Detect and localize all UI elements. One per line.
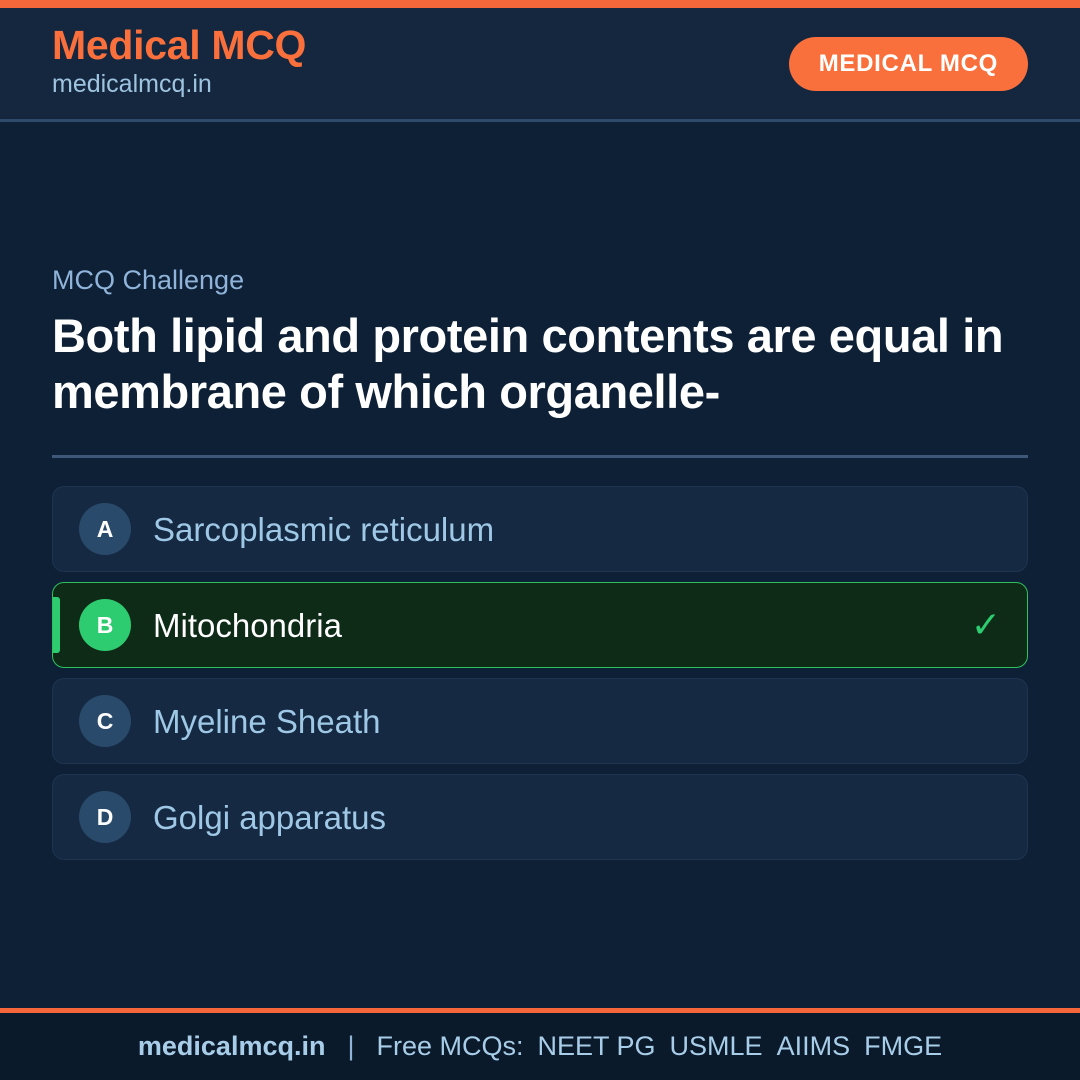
footer-exam-usmle[interactable]: USMLE bbox=[670, 1031, 763, 1062]
brand-subtitle: medicalmcq.in bbox=[52, 69, 306, 100]
check-icon: ✓ bbox=[971, 607, 1001, 643]
brand-block: Medical MCQ medicalmcq.in bbox=[52, 24, 306, 100]
page-footer: medicalmcq.in | Free MCQs: NEET PG USMLE… bbox=[0, 1008, 1080, 1080]
footer-site-link[interactable]: medicalmcq.in bbox=[138, 1031, 326, 1062]
page-header: Medical MCQ medicalmcq.in MEDICAL MCQ bbox=[0, 8, 1080, 122]
option-letter-badge: C bbox=[79, 695, 131, 747]
option-label: Myeline Sheath bbox=[153, 702, 957, 742]
brand-title: Medical MCQ bbox=[52, 24, 306, 67]
options-list: A Sarcoplasmic reticulum ✓ B Mitochondri… bbox=[52, 486, 1028, 860]
eyebrow-label: MCQ Challenge bbox=[52, 264, 1028, 296]
question-text: Both lipid and protein contents are equa… bbox=[52, 308, 1012, 419]
option-letter-badge: A bbox=[79, 503, 131, 555]
footer-exam-neetpg[interactable]: NEET PG bbox=[538, 1031, 656, 1062]
footer-text: medicalmcq.in | Free MCQs: NEET PG USMLE… bbox=[138, 1031, 942, 1062]
option-d[interactable]: D Golgi apparatus ✓ bbox=[52, 774, 1028, 860]
option-label: Mitochondria bbox=[153, 606, 957, 646]
option-a[interactable]: A Sarcoplasmic reticulum ✓ bbox=[52, 486, 1028, 572]
option-label: Golgi apparatus bbox=[153, 798, 957, 838]
footer-exam-aiims[interactable]: AIIMS bbox=[777, 1031, 851, 1062]
option-label: Sarcoplasmic reticulum bbox=[153, 510, 957, 550]
main-content: MCQ Challenge Both lipid and protein con… bbox=[0, 264, 1080, 860]
footer-separator: | bbox=[347, 1031, 354, 1062]
option-letter-badge: B bbox=[79, 599, 131, 651]
top-accent-bar bbox=[0, 0, 1080, 8]
section-divider bbox=[52, 455, 1028, 458]
option-c[interactable]: C Myeline Sheath ✓ bbox=[52, 678, 1028, 764]
option-b[interactable]: B Mitochondria ✓ bbox=[52, 582, 1028, 668]
footer-exam-fmge[interactable]: FMGE bbox=[864, 1031, 942, 1062]
option-letter-badge: D bbox=[79, 791, 131, 843]
footer-label: Free MCQs: bbox=[376, 1031, 523, 1062]
header-badge: MEDICAL MCQ bbox=[789, 37, 1028, 91]
